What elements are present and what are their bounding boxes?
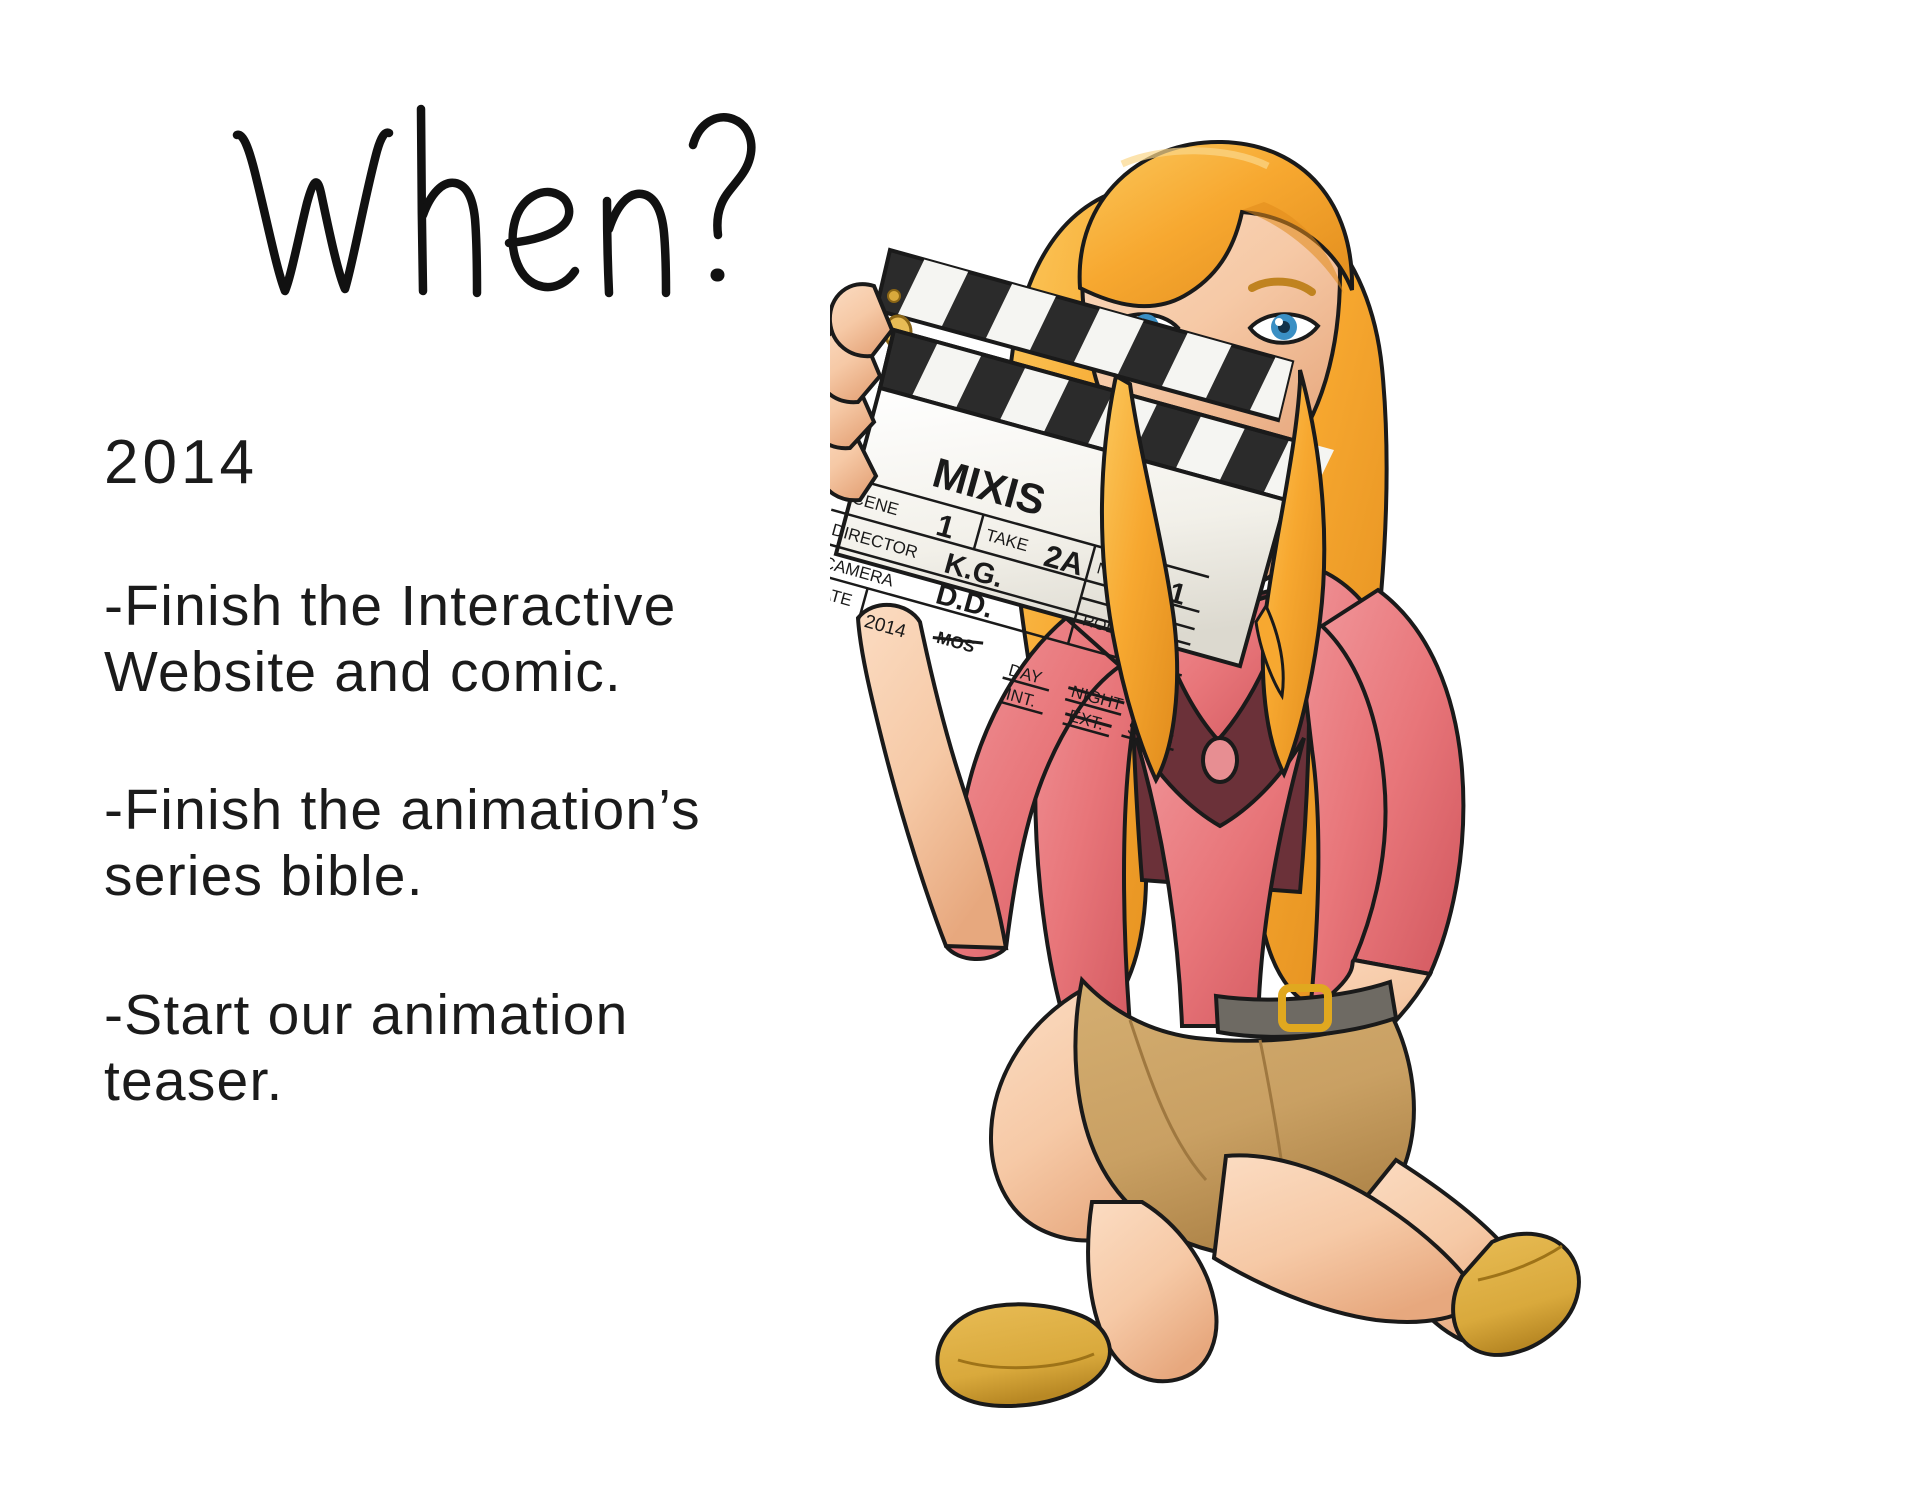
slide-canvas: 2014 -Finish the Interactive Website and… — [0, 0, 1920, 1500]
character-illustration: MIXIS SCENE — [830, 120, 1870, 1460]
page-title — [225, 95, 795, 310]
clapper-marker-mos: MOS — [931, 627, 984, 659]
bullet-item-3: -Start our animation teaser. — [104, 982, 844, 1114]
shoe-left — [937, 1304, 1109, 1406]
cardigan-button — [1203, 738, 1237, 782]
hinge-dot-top — [888, 290, 900, 302]
title-handwriting — [225, 95, 795, 310]
bullet-item-2: -Finish the animation’s series bible. — [104, 777, 844, 909]
bullet-item-1: -Finish the Interactive Website and comi… — [104, 573, 844, 705]
body-text-column: 2014 -Finish the Interactive Website and… — [104, 430, 844, 1114]
year-label: 2014 — [104, 430, 844, 495]
